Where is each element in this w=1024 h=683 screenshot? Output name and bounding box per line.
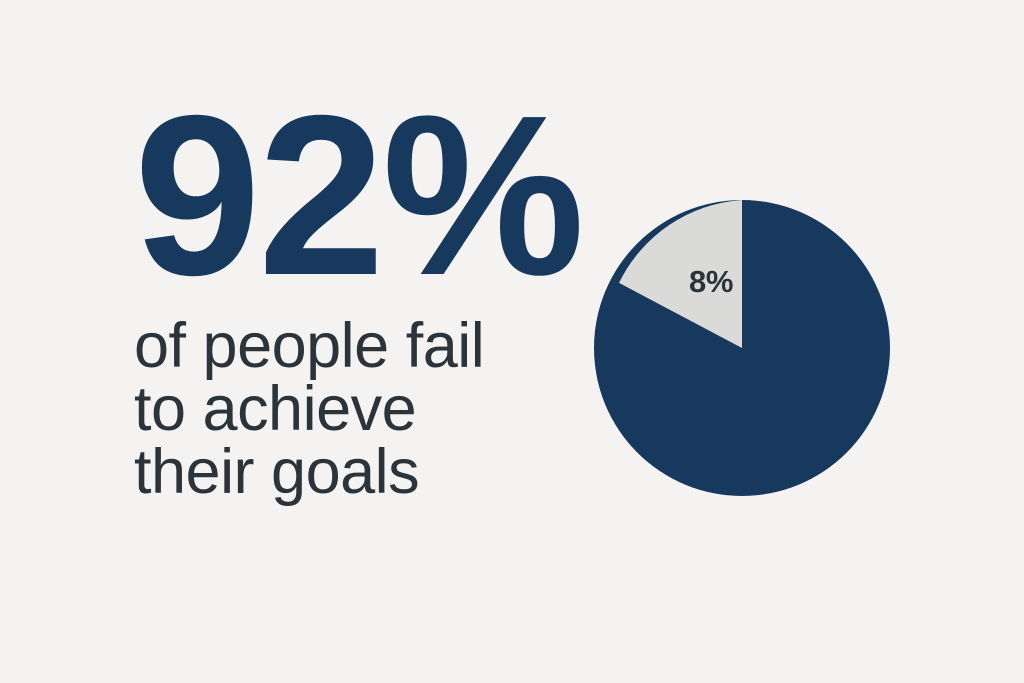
pie-chart: 8%	[576, 182, 908, 514]
subheadline-list: of people fail to achieve their goals	[134, 315, 564, 504]
pie-slice-minority-label: 8%	[689, 264, 733, 299]
infographic-canvas: 92% of people fail to achieve their goal…	[0, 0, 1024, 683]
headline-text-block: 92% of people fail to achieve their goal…	[134, 96, 564, 504]
subheadline-line-1: of people fail	[134, 315, 564, 378]
page-title: 92%	[134, 96, 564, 297]
subheadline-line-3: their goals	[134, 441, 564, 504]
subheadline-line-2: to achieve	[134, 378, 564, 441]
pie-chart-svg: 8%	[576, 182, 908, 514]
